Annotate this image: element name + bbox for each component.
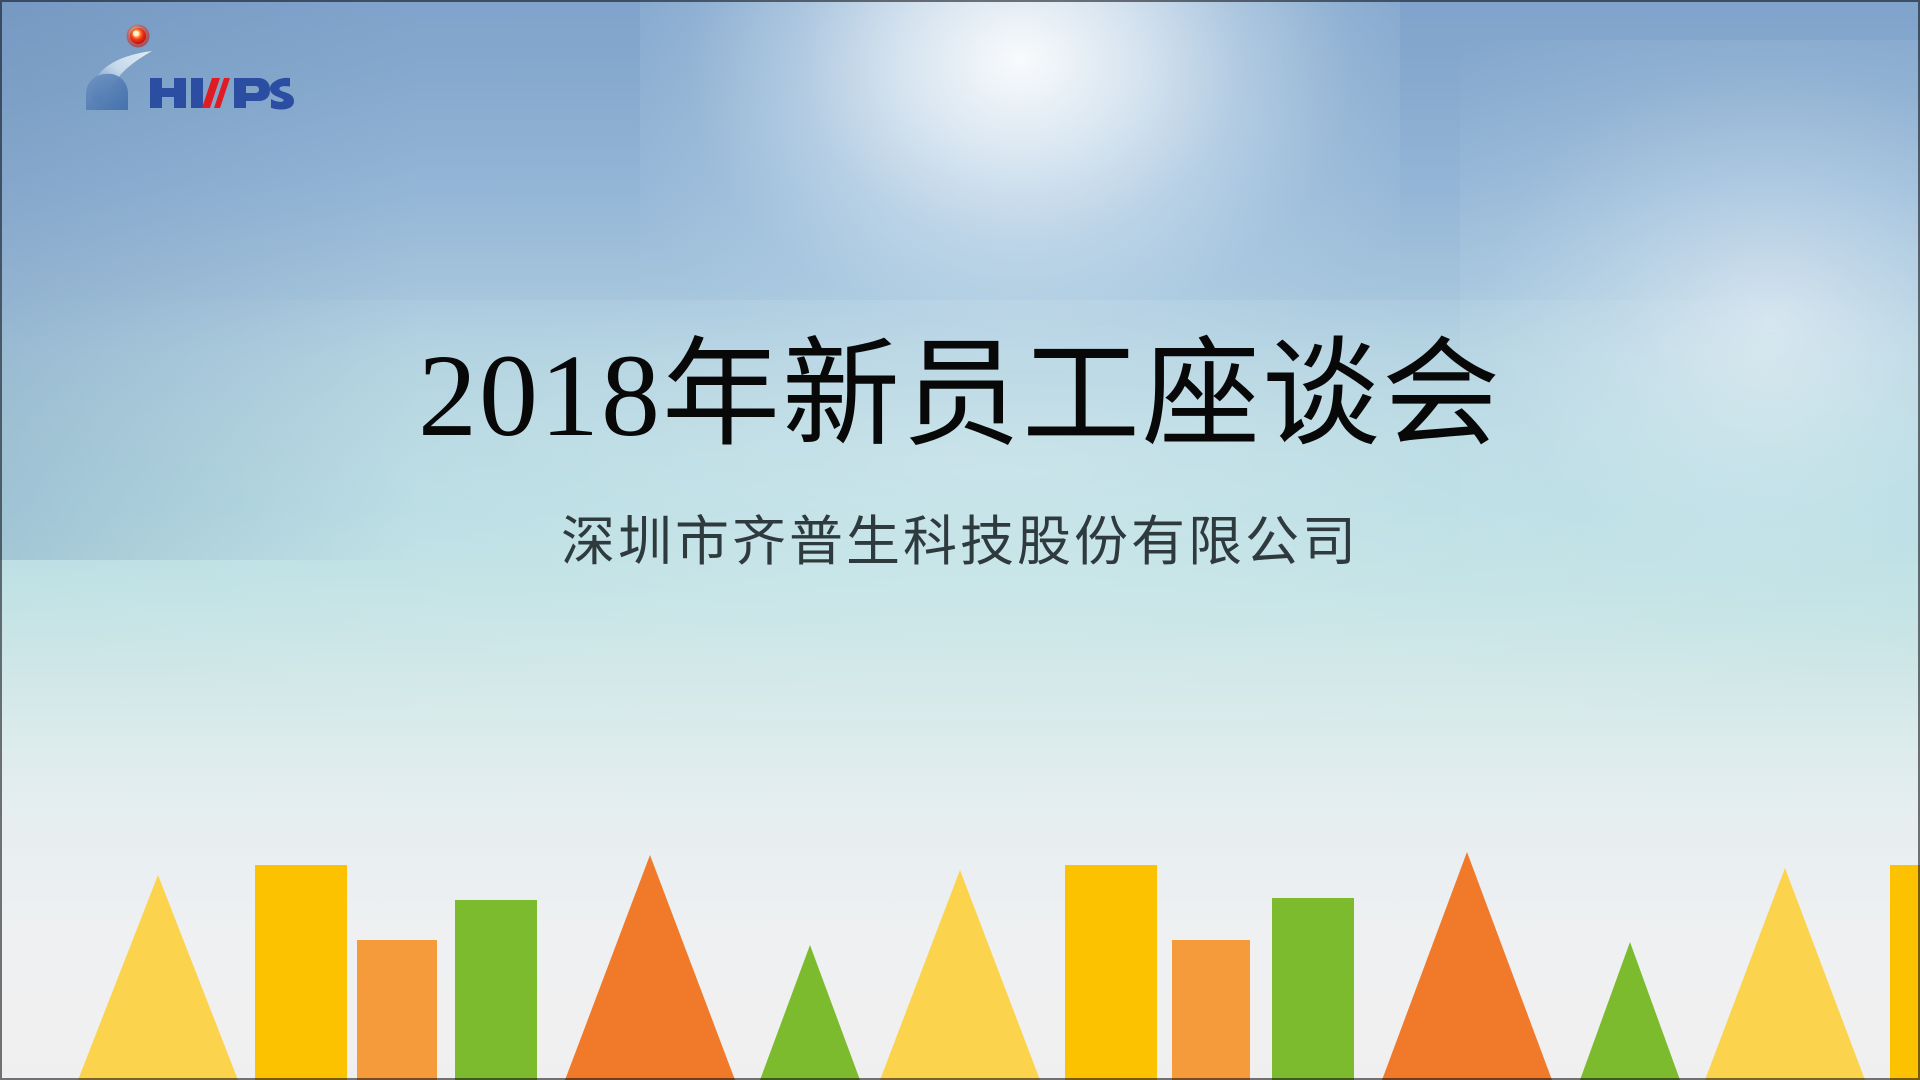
bottom-shape-band bbox=[0, 820, 1920, 1080]
deco-shape-triangle bbox=[565, 855, 735, 1080]
deco-shape-bar bbox=[1890, 865, 1920, 1080]
deco-shape-triangle bbox=[1382, 852, 1552, 1080]
sun-glow-decoration bbox=[640, 0, 1400, 370]
logo-dot-icon bbox=[127, 25, 150, 48]
deco-shape-bar bbox=[255, 865, 347, 1080]
deco-shape-triangle bbox=[880, 870, 1040, 1080]
deco-shape-triangle bbox=[1705, 868, 1865, 1080]
deco-shape-bar bbox=[1272, 898, 1354, 1080]
hips-logo bbox=[78, 22, 298, 112]
deco-shape-bar bbox=[455, 900, 537, 1080]
deco-shape-triangle bbox=[78, 875, 238, 1080]
company-subtitle: 深圳市齐普生科技股份有限公司 bbox=[0, 510, 1920, 575]
deco-shape-triangle bbox=[1580, 942, 1680, 1080]
deco-shape-bar bbox=[357, 940, 437, 1080]
logo-accent-slash-icon bbox=[202, 78, 230, 108]
title-slide: 2018年新员工座谈会 深圳市齐普生科技股份有限公司 bbox=[0, 0, 1920, 1080]
deco-shape-triangle bbox=[760, 945, 860, 1080]
page-title: 2018年新员工座谈会 bbox=[0, 330, 1920, 462]
deco-shape-bar bbox=[1065, 865, 1157, 1080]
title-block: 2018年新员工座谈会 深圳市齐普生科技股份有限公司 bbox=[0, 330, 1920, 575]
deco-shape-bar bbox=[1172, 940, 1250, 1080]
logo-body-icon bbox=[86, 74, 128, 110]
